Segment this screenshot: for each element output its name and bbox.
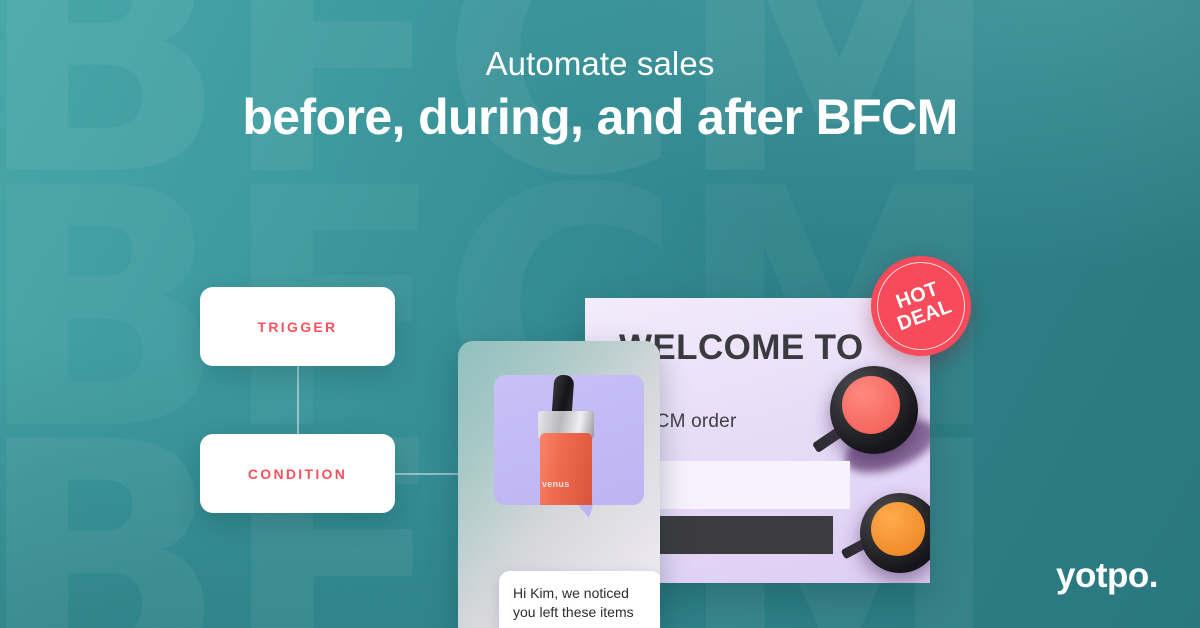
chat-bubble-tail [578,505,593,518]
product-brand-label: venus [542,479,570,489]
chat-message-bubble: Hi Kim, we noticed you left these items [499,571,660,628]
headline-kicker: Automate sales [0,46,1200,82]
yotpo-logo: yotpo. [1056,556,1158,596]
hot-deal-badge: HOT DEAL [871,256,971,356]
makeup-compact-orange [860,493,930,573]
marketing-banner: BFCM BFCM BFCM Automate sales before, du… [0,0,1200,628]
flow-card-trigger-label: TRIGGER [258,319,338,335]
headline-block: Automate sales before, during, and after… [0,46,1200,147]
chat-message-text: Hi Kim, we noticed you left these items [513,584,648,622]
flow-card-trigger[interactable]: TRIGGER [200,287,395,366]
product-bottle [540,433,592,505]
flow-card-condition-label: CONDITION [248,466,347,482]
compact-powder-pan [871,502,925,556]
page-title: before, during, and after BFCM [0,88,1200,147]
flow-card-condition[interactable]: CONDITION [200,434,395,513]
product-image-tile: venus [494,375,644,505]
flow-connector-vertical [297,366,299,434]
phone-preview-card: venus Hi Kim, we noticed you left these … [458,341,660,628]
compact-powder-pan [842,376,900,434]
makeup-compact-coral [830,366,918,454]
